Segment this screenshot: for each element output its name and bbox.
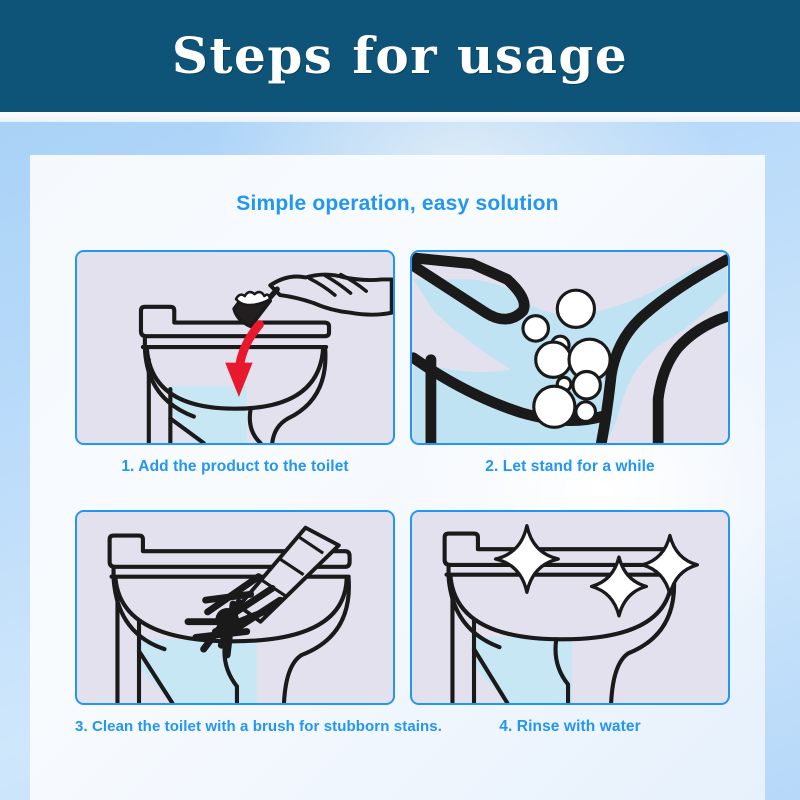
steps-row-2: 3. Clean the toilet with a brush for stu…	[30, 510, 765, 770]
step-item-2: 2. Let stand for a while	[410, 250, 730, 476]
step-item-1: 1. Add the product to the toilet	[75, 250, 395, 476]
step-3-illustration	[75, 510, 395, 705]
content-card: Simple operation, easy solution	[30, 155, 765, 800]
page-title: Steps for usage	[172, 31, 628, 81]
step-3-caption: 3. Clean the toilet with a brush for stu…	[75, 718, 395, 735]
step-2-illustration	[410, 250, 730, 445]
steps-row-1: 1. Add the product to the toilet	[30, 250, 765, 510]
step-2-caption: 2. Let stand for a while	[410, 458, 730, 476]
subtitle: Simple operation, easy solution	[30, 192, 765, 216]
step-1-caption: 1. Add the product to the toilet	[75, 458, 395, 476]
usage-steps-infographic: Steps for usage Simple operation, easy s…	[0, 0, 800, 800]
header-divider	[0, 112, 800, 122]
step-4-illustration	[410, 510, 730, 705]
step-1-illustration	[75, 250, 395, 445]
water-icon	[168, 386, 246, 443]
steps-grid: 1. Add the product to the toilet	[30, 250, 765, 770]
step-item-4: 4. Rinse with water	[410, 510, 730, 736]
step-4-caption: 4. Rinse with water	[410, 718, 730, 736]
step-item-3: 3. Clean the toilet with a brush for stu…	[75, 510, 395, 735]
header-banner: Steps for usage	[0, 0, 800, 112]
